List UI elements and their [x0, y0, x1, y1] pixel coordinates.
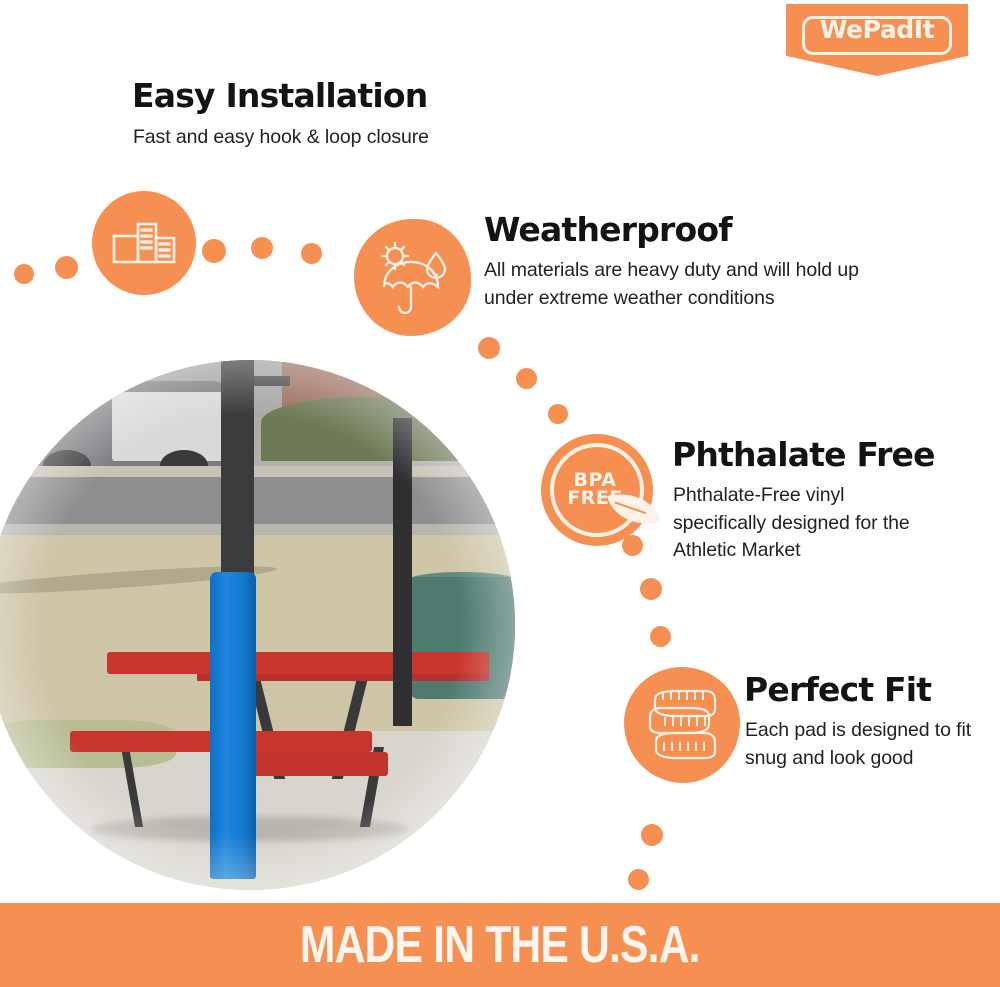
path-dot	[301, 243, 322, 264]
infographic-canvas: WePadIt Easy Installation Fast and easy …	[0, 0, 1000, 987]
building-icon	[92, 191, 196, 295]
feature-title-easy-installation: Easy Installation	[132, 78, 427, 114]
photo-background-pole	[393, 418, 412, 725]
logo-text: WePadIt	[786, 17, 968, 42]
path-dot	[641, 824, 663, 846]
photo-blue-pole-pad	[210, 572, 256, 879]
photo-suv-body	[112, 392, 234, 461]
photo-road	[0, 477, 515, 525]
made-in-usa-banner: MADE IN THE U.S.A.	[0, 903, 1000, 987]
photo-bench-seat	[250, 752, 388, 776]
feature-body-easy-installation: Fast and easy hook & loop closure	[133, 124, 553, 152]
path-dot	[14, 264, 34, 284]
sun-umbrella-raindrop-icon	[354, 219, 471, 336]
path-dot	[478, 337, 500, 359]
photo-trash-barrel	[409, 577, 515, 699]
feature-title-weatherproof: Weatherproof	[484, 212, 732, 248]
path-dot	[548, 404, 568, 424]
path-dot	[202, 239, 226, 263]
path-dot	[251, 237, 273, 259]
feature-body-phthalate-free: Phthalate-Free vinyl specifically design…	[673, 482, 935, 565]
path-dot	[516, 368, 537, 389]
brand-logo[interactable]: WePadIt	[786, 4, 968, 76]
path-dot	[640, 578, 662, 600]
bpa-free-leaf-icon: BPA FREE	[541, 434, 653, 546]
feature-title-perfect-fit: Perfect Fit	[744, 672, 931, 708]
feature-body-perfect-fit: Each pad is designed to fit snug and loo…	[745, 717, 977, 772]
made-in-usa-text: MADE IN THE U.S.A.	[300, 915, 700, 975]
photo-picnic-table-top	[107, 652, 489, 674]
path-dot	[628, 869, 649, 890]
feature-body-weatherproof: All materials are heavy duty and will ho…	[484, 257, 884, 312]
measuring-tape-icon	[624, 667, 740, 783]
photo-hedge	[261, 397, 515, 461]
product-photo	[0, 360, 515, 890]
feature-title-phthalate-free: Phthalate Free	[672, 437, 935, 473]
path-dot	[650, 626, 671, 647]
path-dot	[622, 535, 643, 556]
path-dot	[55, 256, 78, 279]
